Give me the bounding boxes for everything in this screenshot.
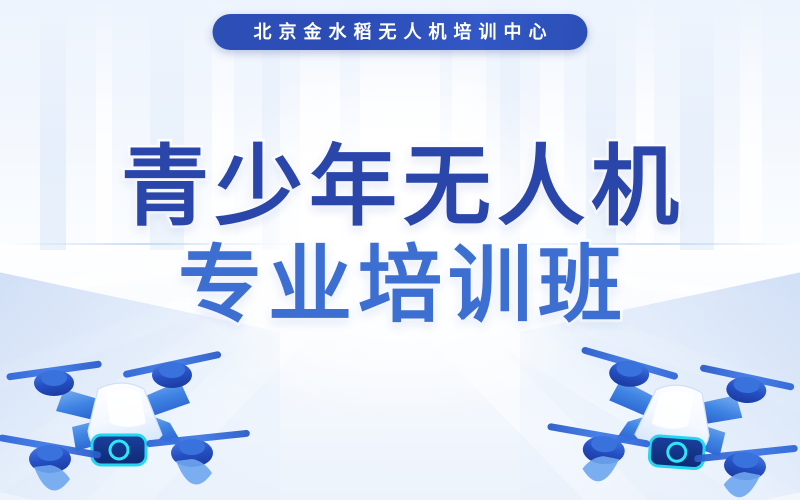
light-streak xyxy=(96,0,112,250)
light-streak xyxy=(740,0,762,250)
drone-left xyxy=(0,331,254,500)
drone-camera xyxy=(649,435,705,469)
header-banner-label: 北京金水稻无人机培训中心 xyxy=(247,23,554,41)
quadcopter-drone-icon xyxy=(538,324,800,500)
light-streak xyxy=(680,0,714,250)
poster-canvas: 北京金水稻无人机培训中心 青少年无人机 专业培训班 xyxy=(0,0,800,500)
landing-gear xyxy=(582,455,620,483)
light-streak xyxy=(636,0,654,250)
header-banner[interactable]: 北京金水稻无人机培训中心 xyxy=(213,14,588,50)
drone-camera xyxy=(92,435,146,465)
landing-gear xyxy=(723,471,761,499)
quadcopter-drone-icon xyxy=(0,331,254,500)
light-streak xyxy=(40,0,66,250)
drone-right xyxy=(544,333,800,500)
